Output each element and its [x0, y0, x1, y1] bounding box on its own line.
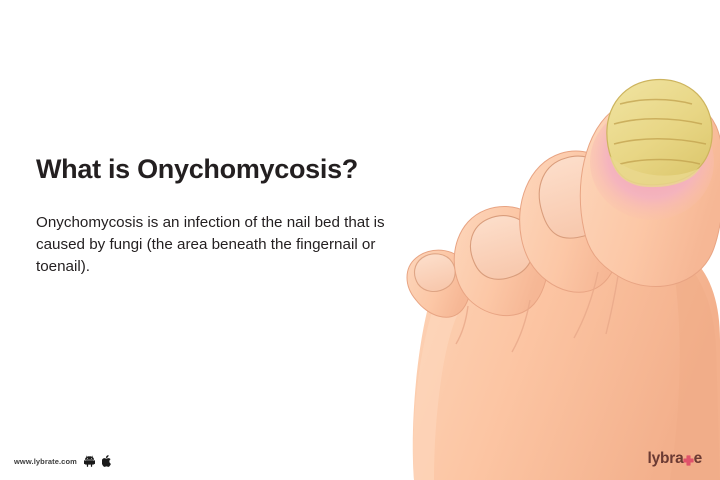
brand-logo[interactable]: lybra e — [648, 451, 702, 467]
brand-name-part-two: e — [694, 451, 702, 467]
foot-illustration — [370, 0, 720, 480]
body-copy: Onychomycosis is an infection of the nai… — [36, 186, 404, 278]
apple-logo-icon[interactable] — [102, 455, 113, 467]
infographic-canvas: What is Onychomycosis? Onychomycosis is … — [0, 0, 720, 480]
infected-nail — [607, 79, 712, 187]
toe-big — [580, 79, 720, 286]
text-block: What is Onychomycosis? Onychomycosis is … — [36, 152, 416, 278]
page-title: What is Onychomycosis? — [36, 152, 416, 186]
footer-left: www.lybrate.com — [14, 455, 113, 467]
site-url[interactable]: www.lybrate.com — [14, 457, 77, 466]
medical-cross-icon — [683, 454, 694, 465]
brand-name-part-one: lybra — [648, 451, 684, 467]
android-robot-icon[interactable] — [84, 455, 95, 467]
